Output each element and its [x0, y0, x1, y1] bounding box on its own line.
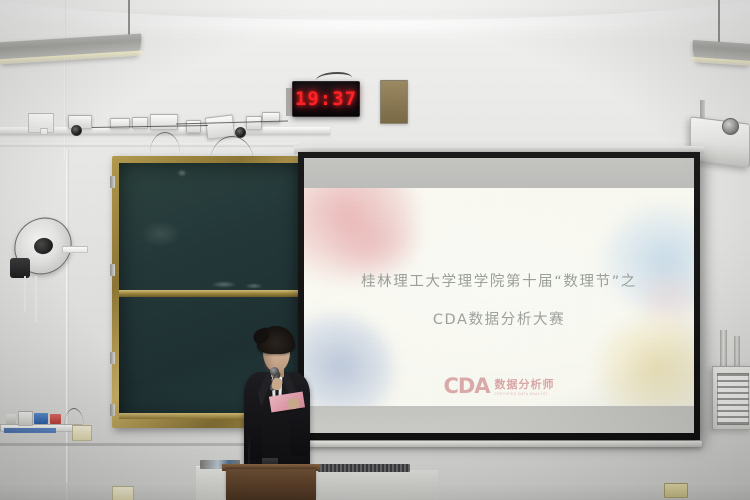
- wall-seam: [66, 150, 69, 500]
- presentation-slide: 桂林理工大学理学院第十届“数理节”之 CDA数据分析大赛 CDA 数据分析师 C…: [304, 188, 694, 406]
- wooden-podium: [226, 469, 316, 500]
- security-camera-left: [71, 125, 82, 136]
- chalk-mark-4: [141, 221, 181, 247]
- projection-screen: 桂林理工大学理学院第十届“数理节”之 CDA数据分析大赛 CDA 数据分析师 C…: [298, 152, 700, 440]
- cda-logo-text: 数据分析师 CERTIFIED DATA ANALYST: [495, 376, 555, 396]
- chalk-mark-1: [177, 169, 187, 177]
- hanging-light-right: [691, 40, 750, 66]
- board-clip-3: [110, 352, 115, 364]
- wall-seam-upper: [64, 0, 66, 160]
- clock-time: 19:37: [295, 88, 357, 110]
- screen-surface: 桂林理工大学理学院第十届“数理节”之 CDA数据分析大赛 CDA 数据分析师 C…: [304, 158, 694, 433]
- wall-plate-switch: [40, 128, 48, 135]
- shelf-label: [4, 428, 56, 433]
- vent-pipe-1: [720, 330, 727, 370]
- board-clip-4: [110, 404, 115, 416]
- hand-holding-card: [287, 397, 299, 409]
- power-outlet-upper[interactable]: [72, 425, 92, 441]
- chalk-box-white: [18, 411, 33, 426]
- power-outlet-lower[interactable]: [112, 486, 134, 500]
- chalk-box-blue: [34, 413, 48, 424]
- projector-lens: [722, 118, 739, 135]
- cda-logo-subtitle: CERTIFIED DATA ANALYST: [495, 392, 549, 396]
- microphone-head: [270, 367, 279, 376]
- wall-device-c: [150, 114, 178, 130]
- cda-logo-chinese: 数据分析师: [495, 376, 555, 392]
- fan-pull-cord-2[interactable]: [35, 276, 37, 322]
- chalk-box-small: [6, 414, 16, 424]
- chalk-mark-3: [245, 283, 263, 289]
- presenter: [228, 326, 324, 476]
- cda-logo-mark: CDA: [443, 374, 489, 398]
- board-clip-2: [110, 264, 115, 276]
- screen-bottom-bar: [296, 441, 702, 447]
- wall-base-line: [0, 443, 245, 446]
- vent-grill: [717, 373, 749, 425]
- slide-title-block: 桂林理工大学理学院第十届“数理节”之 CDA数据分析大赛: [304, 274, 694, 329]
- desk-keyboard[interactable]: [318, 464, 410, 472]
- screen-letterbox-top: [304, 158, 694, 188]
- chalk-mark-2: [211, 281, 237, 288]
- fan-pull-cord-1[interactable]: [24, 276, 26, 312]
- vent-pipe-2: [734, 336, 740, 370]
- wall-speaker-box: [380, 80, 408, 124]
- cda-logo: CDA 数据分析师 CERTIFIED DATA ANALYST: [304, 374, 694, 398]
- wall-mounted-fan: [8, 218, 74, 302]
- wall-digital-clock: 19:37: [292, 81, 360, 117]
- desk-right: [318, 470, 438, 500]
- slide-title-line1: 桂林理工大学理学院第十届“数理节”之: [304, 274, 694, 291]
- wall-outlet-right[interactable]: [664, 483, 688, 498]
- chalk-box-red: [50, 414, 61, 424]
- fluorescent-tube-glare: [0, 2, 750, 28]
- wall-air-vent: [712, 366, 750, 430]
- wall-device-e: [246, 116, 262, 130]
- light-chain-right: [718, 0, 720, 46]
- watercolor-pink-secondary: [334, 210, 424, 282]
- chalkboard-rail: [119, 290, 305, 297]
- board-clip-1: [110, 176, 115, 188]
- classroom-photo: 19:37: [0, 0, 750, 500]
- slide-title-line2: CDA数据分析大赛: [304, 308, 694, 329]
- wall-rail-bracket: [62, 246, 88, 253]
- screen-letterbox-bottom: [304, 406, 694, 433]
- fan-motor: [10, 258, 30, 278]
